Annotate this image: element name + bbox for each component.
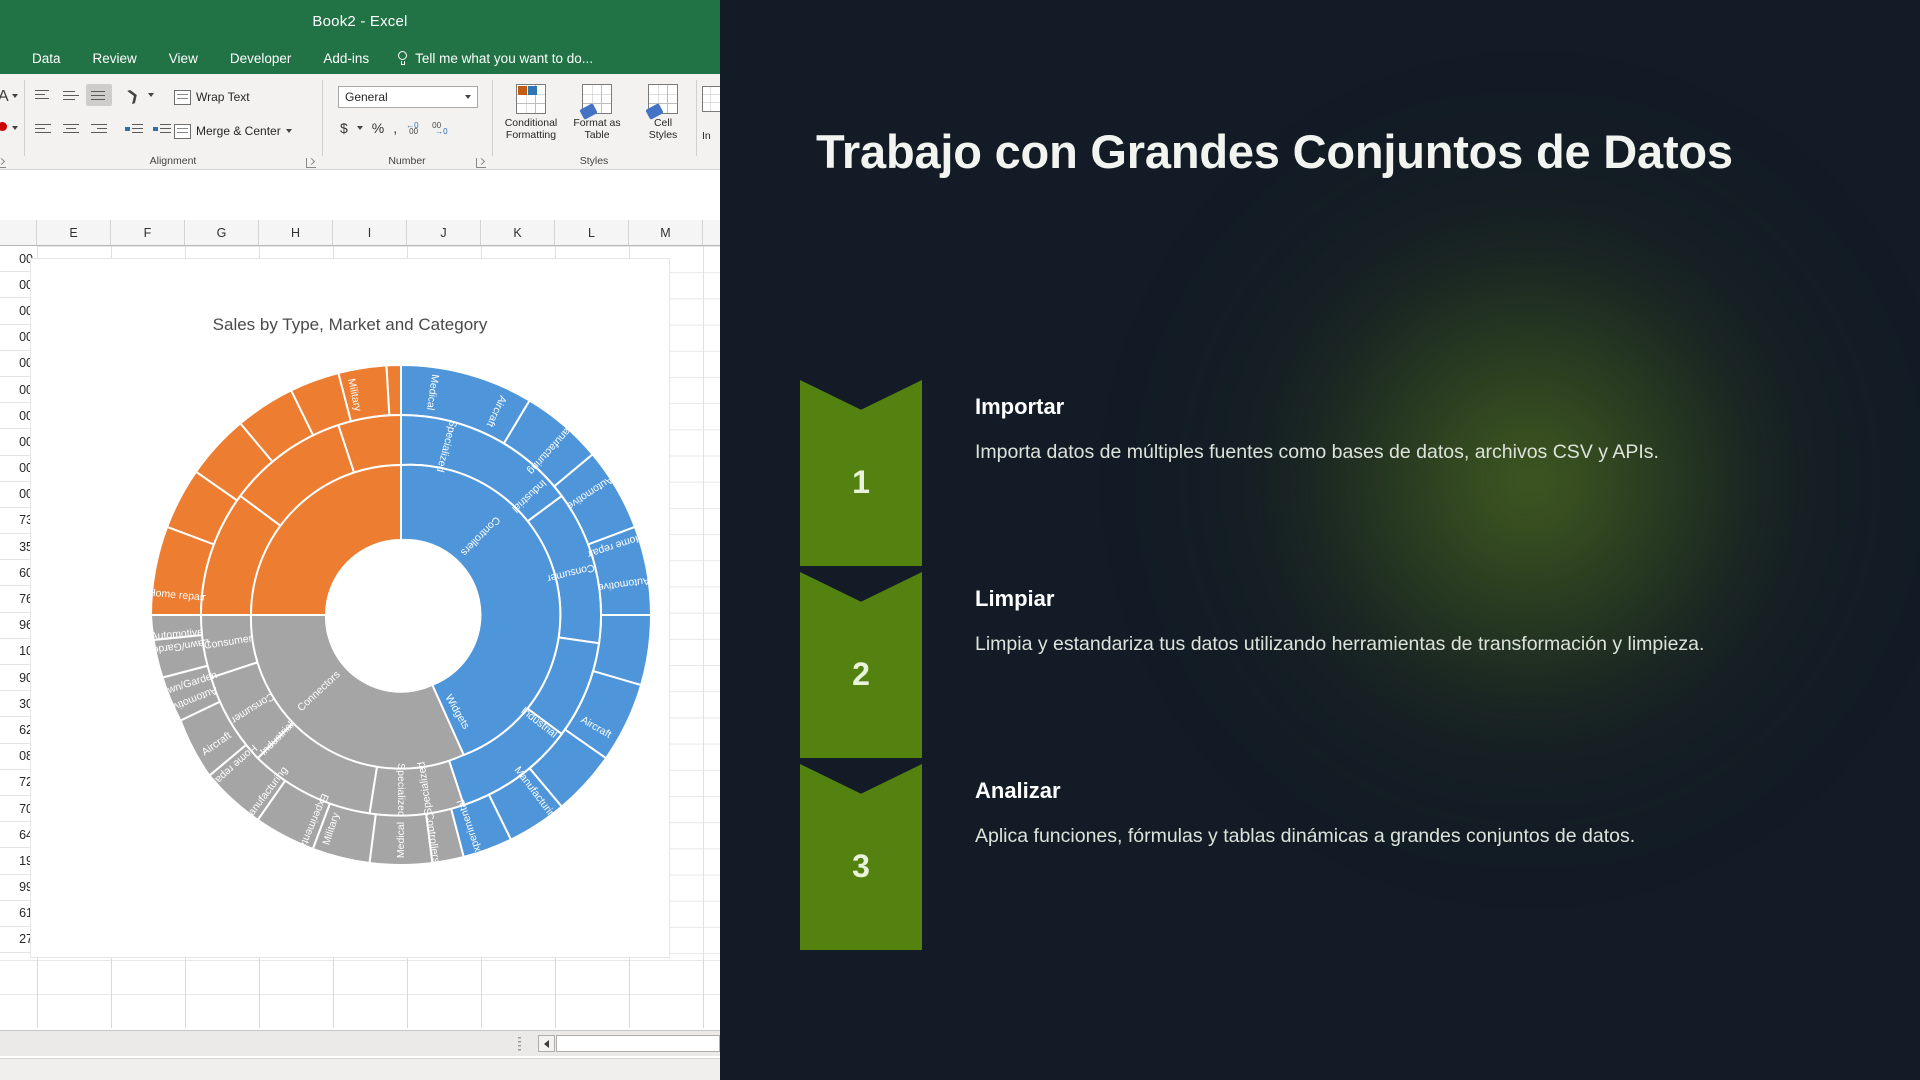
step-text-3: Analizar Aplica funciones, fórmulas y ta… bbox=[922, 764, 1635, 853]
decrease-indent-button[interactable] bbox=[122, 118, 148, 140]
align-right-icon bbox=[89, 122, 109, 137]
currency-caret-icon[interactable] bbox=[357, 126, 363, 130]
align-top-icon bbox=[33, 88, 53, 103]
fat-label-2: Table bbox=[584, 129, 609, 141]
screen-root: Book2 - Excel Data Review View Developer… bbox=[0, 0, 1920, 1080]
alignment-group-label: Alignment bbox=[26, 155, 320, 167]
ribbon-tab-bar: Data Review View Developer Add-ins Tell … bbox=[0, 42, 720, 74]
presentation-slide: Trabajo con Grandes Conjuntos de Datos 1… bbox=[720, 0, 1920, 1080]
merge-center-label: Merge & Center bbox=[196, 124, 281, 138]
merge-center-icon bbox=[174, 124, 191, 139]
ribbon-divider bbox=[322, 80, 323, 156]
select-all-corner[interactable] bbox=[0, 220, 37, 245]
column-header-h[interactable]: H bbox=[259, 220, 333, 245]
cf-label-2: Formatting bbox=[506, 129, 556, 141]
step-heading: Importar bbox=[975, 394, 1659, 420]
conditional-formatting-icon bbox=[516, 84, 546, 114]
horizontal-scrollbar[interactable] bbox=[0, 1030, 720, 1056]
step-chevron-2: 2 bbox=[800, 572, 922, 758]
align-center-button[interactable] bbox=[58, 118, 84, 140]
sunburst-chart[interactable]: Sales by Type, Market and Category bbox=[30, 258, 670, 958]
scrollbar-thumb[interactable] bbox=[556, 1035, 720, 1052]
column-header-e[interactable]: E bbox=[37, 220, 111, 245]
column-header-g[interactable]: G bbox=[185, 220, 259, 245]
ribbon-divider bbox=[696, 80, 697, 156]
step-item[interactable]: 3 Analizar Aplica funciones, fórmulas y … bbox=[800, 764, 1860, 950]
sunburst-svg: Automotive Home repair Automotive Manufa… bbox=[131, 345, 671, 925]
step-body: Limpia y estandariza tus datos utilizand… bbox=[975, 629, 1704, 661]
step-body: Importa datos de múltiples fuentes como … bbox=[975, 437, 1659, 469]
step-heading: Analizar bbox=[975, 778, 1635, 804]
align-left-button[interactable] bbox=[30, 118, 56, 140]
ribbon-group-styles: Conditional Formatting Format as Table C… bbox=[494, 74, 694, 170]
wrap-text-label: Wrap Text bbox=[196, 90, 250, 104]
column-header-m[interactable]: M bbox=[629, 220, 703, 245]
align-right-button[interactable] bbox=[86, 118, 112, 140]
decrease-indent-icon bbox=[125, 122, 145, 137]
cf-label-1: Conditional bbox=[505, 117, 558, 129]
scroll-left-arrow-icon[interactable] bbox=[538, 1035, 555, 1052]
font-color-icon[interactable] bbox=[0, 122, 7, 131]
cs-label-2: Styles bbox=[649, 129, 678, 141]
align-top-button[interactable] bbox=[30, 84, 56, 106]
insert-label: In bbox=[702, 130, 711, 142]
comma-format-button[interactable]: , bbox=[393, 120, 397, 136]
step-number: 2 bbox=[852, 656, 870, 693]
segment-label-specialized: Specialized bbox=[395, 763, 407, 817]
decrease-decimal-button[interactable]: 00 →0 bbox=[432, 121, 449, 136]
fat-label-1: Format as bbox=[573, 117, 620, 129]
align-center-icon bbox=[61, 122, 81, 137]
tell-me-label: Tell me what you want to do... bbox=[415, 51, 593, 66]
ribbon-group-alignment: ❯ bbox=[26, 74, 320, 170]
insert-cells-icon[interactable] bbox=[702, 86, 720, 112]
step-chevron-3: 3 bbox=[800, 764, 922, 950]
font-color-caret-icon[interactable] bbox=[12, 126, 18, 130]
wrap-text-icon bbox=[174, 90, 191, 105]
increase-decimal-button[interactable]: ←0 00 bbox=[406, 121, 423, 136]
number-group-label: Number bbox=[324, 155, 490, 167]
currency-format-button[interactable]: $ bbox=[340, 120, 348, 136]
number-format-value: General bbox=[345, 90, 388, 104]
cell-styles-icon bbox=[648, 84, 678, 114]
lightbulb-icon bbox=[397, 51, 408, 65]
tab-addins[interactable]: Add-ins bbox=[307, 42, 385, 74]
tab-developer[interactable]: Developer bbox=[214, 42, 308, 74]
excel-title-bar: Book2 - Excel bbox=[0, 0, 720, 42]
align-middle-button[interactable] bbox=[58, 84, 84, 106]
step-item[interactable]: 1 Importar Importa datos de múltiples fu… bbox=[800, 380, 1860, 566]
window-title: Book2 - Excel bbox=[312, 13, 407, 30]
number-format-select[interactable]: General bbox=[338, 86, 478, 108]
column-header-row: E F G H I J K L M bbox=[0, 220, 720, 246]
column-header-j[interactable]: J bbox=[407, 220, 481, 245]
column-header-i[interactable]: I bbox=[333, 220, 407, 245]
worksheet-grid: E F G H I J K L M 00 00 00 00 00 00 00 0… bbox=[0, 170, 720, 960]
format-as-table-button[interactable]: Format as Table bbox=[566, 84, 628, 141]
step-body: Aplica funciones, fórmulas y tablas diná… bbox=[975, 821, 1635, 853]
excel-window: Book2 - Excel Data Review View Developer… bbox=[0, 0, 720, 1080]
ribbon: A bbox=[0, 74, 720, 170]
column-header-f[interactable]: F bbox=[111, 220, 185, 245]
align-bottom-button[interactable] bbox=[86, 84, 112, 106]
orientation-caret-icon[interactable] bbox=[148, 93, 154, 97]
step-number: 3 bbox=[852, 848, 870, 885]
ribbon-group-cells: In bbox=[700, 74, 720, 170]
font-grow-caret-icon[interactable] bbox=[12, 94, 18, 98]
merge-center-button[interactable]: Merge & Center bbox=[174, 120, 292, 142]
ribbon-group-number: General $ % , ←0 00 00 →0 bbox=[324, 74, 490, 170]
status-bar bbox=[0, 1058, 720, 1080]
ribbon-group-font: A bbox=[0, 74, 22, 170]
ribbon-divider bbox=[492, 80, 493, 156]
tab-review[interactable]: Review bbox=[77, 42, 153, 74]
step-chevron-1: 1 bbox=[800, 380, 922, 566]
align-left-icon bbox=[33, 122, 53, 137]
percent-format-button[interactable]: % bbox=[372, 120, 384, 136]
tab-data[interactable]: Data bbox=[16, 42, 77, 74]
column-header-k[interactable]: K bbox=[481, 220, 555, 245]
step-heading: Limpiar bbox=[975, 586, 1704, 612]
styles-group-label: Styles bbox=[494, 155, 694, 167]
increase-indent-button[interactable] bbox=[150, 118, 176, 140]
alignment-dialog-launcher[interactable] bbox=[306, 158, 316, 168]
grid-lines-bottom bbox=[0, 960, 720, 1028]
segment-label-medical: Medical bbox=[395, 822, 407, 858]
orientation-icon: ❯ bbox=[125, 85, 142, 105]
step-text-1: Importar Importa datos de múltiples fuen… bbox=[922, 380, 1659, 469]
step-text-2: Limpiar Limpia y estandariza tus datos u… bbox=[922, 572, 1704, 661]
tell-me-box[interactable]: Tell me what you want to do... bbox=[397, 51, 593, 66]
font-dialog-launcher[interactable] bbox=[0, 158, 6, 168]
step-item[interactable]: 2 Limpiar Limpia y estandariza tus datos… bbox=[800, 572, 1860, 758]
cs-label-1: Cell bbox=[654, 117, 672, 129]
chevron-down-icon[interactable] bbox=[465, 95, 471, 99]
orientation-button[interactable]: ❯ bbox=[120, 84, 146, 106]
format-as-table-icon bbox=[582, 84, 612, 114]
step-number: 1 bbox=[852, 464, 870, 501]
chart-title: Sales by Type, Market and Category bbox=[31, 315, 669, 335]
worksheet-bottom bbox=[0, 960, 720, 1080]
number-dialog-launcher[interactable] bbox=[476, 158, 486, 168]
column-header-l[interactable]: L bbox=[555, 220, 629, 245]
steps-list: 1 Importar Importa datos de múltiples fu… bbox=[800, 380, 1860, 950]
scrollbar-grip[interactable] bbox=[518, 1037, 521, 1051]
increase-indent-icon bbox=[153, 122, 173, 137]
align-middle-icon bbox=[61, 88, 81, 103]
cell-styles-button[interactable]: Cell Styles bbox=[632, 84, 694, 141]
ribbon-divider bbox=[24, 80, 25, 156]
conditional-formatting-button[interactable]: Conditional Formatting bbox=[500, 84, 562, 141]
slide-title: Trabajo con Grandes Conjuntos de Datos bbox=[816, 120, 1746, 185]
tab-view[interactable]: View bbox=[153, 42, 214, 74]
font-size-grow-icon[interactable]: A bbox=[0, 88, 9, 106]
wrap-text-button[interactable]: Wrap Text bbox=[174, 86, 250, 108]
align-bottom-icon bbox=[89, 88, 109, 103]
merge-center-caret-icon[interactable] bbox=[286, 129, 292, 133]
